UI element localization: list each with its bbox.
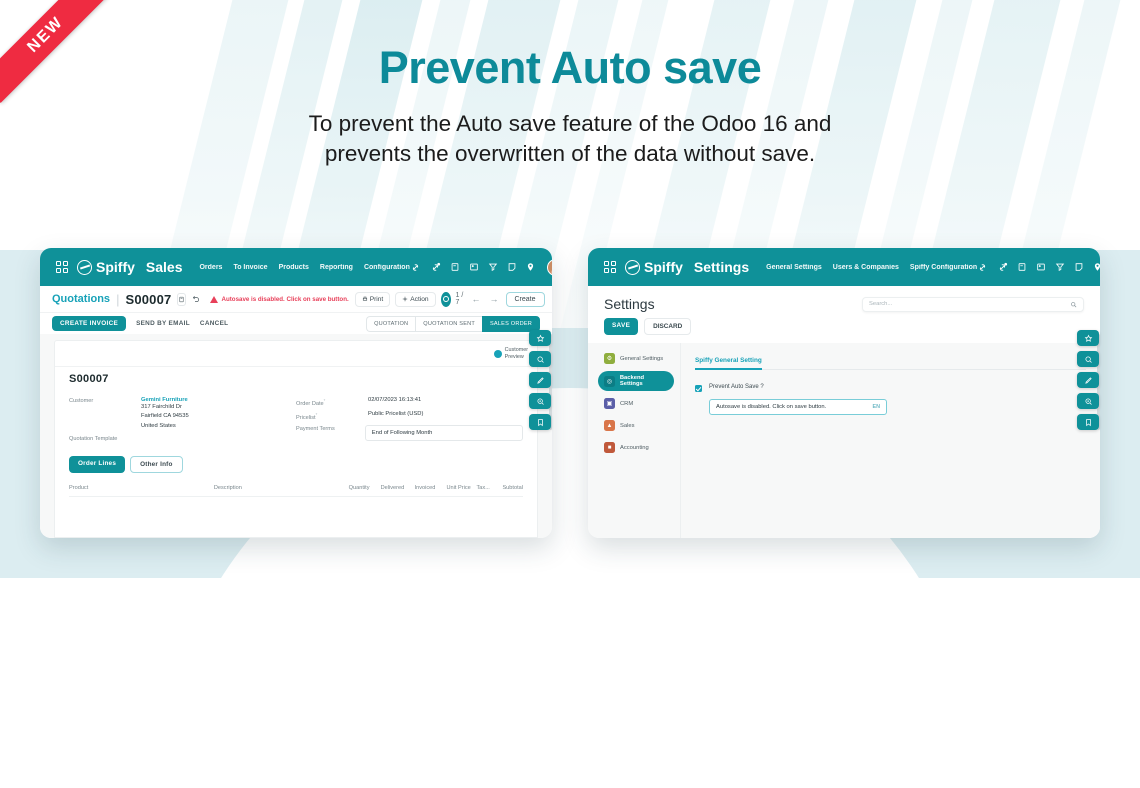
menu-item-to-invoice[interactable]: To Invoice xyxy=(233,264,267,271)
sales-panel: Spiffy Sales Orders To Invoice Products … xyxy=(40,248,552,538)
menu-item-reporting[interactable]: Reporting xyxy=(320,264,353,271)
pin-icon[interactable] xyxy=(526,262,535,272)
sheet-fields: Customer Gemini Furniture 317 Fairchild … xyxy=(69,397,523,446)
filter-icon[interactable] xyxy=(488,262,498,272)
action-button[interactable]: Action xyxy=(395,292,435,307)
link-badge-icon[interactable] xyxy=(430,262,441,273)
undo-icon[interactable] xyxy=(192,293,200,306)
fields-left-column: Customer Gemini Furniture 317 Fairchild … xyxy=(69,397,296,446)
breadcrumb-parent[interactable]: Quotations xyxy=(52,293,110,305)
note-icon[interactable] xyxy=(1074,262,1084,272)
link-badge-icon[interactable] xyxy=(997,262,1008,273)
subtitle-line-1: To prevent the Auto save feature of the … xyxy=(309,111,832,136)
field-customer-value[interactable]: Gemini Furniture 317 Fairchild Dr Fairfi… xyxy=(141,397,189,431)
bookmark-icon[interactable] xyxy=(529,414,551,430)
create-invoice-button[interactable]: CREATE INVOICE xyxy=(52,316,126,331)
customer-preview-button[interactable]: Customer Preview xyxy=(494,347,528,361)
sales-statusbar: CREATE INVOICE SEND BY EMAIL CANCEL QUOT… xyxy=(40,312,552,334)
column-delivered: Delivered xyxy=(381,485,415,491)
column-unit-price: Unit Price xyxy=(447,485,477,491)
spiffy-mark-icon xyxy=(625,260,640,275)
field-quotation-template: Quotation Template xyxy=(69,435,296,442)
tab-other-info[interactable]: Other Info xyxy=(130,456,183,473)
record-actions: Print Action 1 / 7 ← → Create xyxy=(355,292,545,307)
fields-right-column: Order Date* 02/07/2023 16:13:41 Pricelis… xyxy=(296,397,523,446)
payment-terms-input[interactable]: End of Following Month xyxy=(365,425,523,441)
sheet-tabs: Order Lines Other Info xyxy=(69,456,523,473)
warning-triangle-icon xyxy=(210,296,218,303)
menu-item-general-settings[interactable]: General Settings xyxy=(766,264,822,271)
pin-icon[interactable] xyxy=(1093,262,1100,272)
new-ribbon: NEW xyxy=(0,0,110,110)
zoom-icon[interactable] xyxy=(529,393,551,409)
sales-side-tools xyxy=(529,330,1140,430)
field-pricelist: Pricelist* Public Pricelist (USD) xyxy=(296,411,523,421)
tab-order-lines[interactable]: Order Lines xyxy=(69,456,125,473)
arrow-right-icon[interactable]: → xyxy=(488,294,501,304)
breadcrumb: Quotations | S00007 Autosave is disabled… xyxy=(40,286,552,312)
sidebar-item-accounting[interactable]: ■ Accounting xyxy=(598,438,674,457)
user-avatar[interactable] xyxy=(547,259,552,276)
column-tax: Tax... xyxy=(476,485,502,491)
save-record-icon[interactable] xyxy=(441,292,451,307)
star-icon[interactable] xyxy=(1077,330,1099,346)
settings-side-tools xyxy=(1077,330,1140,430)
column-invoiced: Invoiced xyxy=(415,485,447,491)
menu-item-orders[interactable]: Orders xyxy=(199,264,222,271)
settings-systray xyxy=(977,259,1100,276)
brand-name: Spiffy xyxy=(644,259,683,275)
search-circle-icon[interactable] xyxy=(529,351,551,367)
field-pricelist-label: Pricelist* xyxy=(296,411,368,421)
sales-systray xyxy=(410,259,552,276)
order-lines-header: Product Description Quantity Delivered I… xyxy=(69,485,523,497)
field-pricelist-value[interactable]: Public Pricelist (USD) xyxy=(368,411,423,421)
note-icon[interactable] xyxy=(507,262,517,272)
status-stages: QUOTATION QUOTATION SENT SALES ORDER xyxy=(366,316,540,332)
sales-menu: Orders To Invoice Products Reporting Con… xyxy=(199,264,409,271)
field-order-date: Order Date* 02/07/2023 16:13:41 xyxy=(296,397,523,407)
menu-item-configuration[interactable]: Configuration xyxy=(364,264,410,271)
zoom-icon[interactable] xyxy=(1077,393,1099,409)
printer-icon[interactable] xyxy=(1017,262,1027,272)
apps-grid-icon[interactable] xyxy=(604,261,616,273)
field-order-date-value[interactable]: 02/07/2023 16:13:41 xyxy=(368,397,421,407)
search-circle-icon[interactable] xyxy=(1077,351,1099,367)
app-name: Sales xyxy=(146,259,183,275)
customer-preview-icon xyxy=(494,350,502,358)
breadcrumb-record: S00007 xyxy=(125,292,171,307)
app-name: Settings xyxy=(694,259,749,275)
settings-menu: General Settings Users & Companies Spiff… xyxy=(766,264,977,271)
star-icon[interactable] xyxy=(529,330,551,346)
menu-item-users-companies[interactable]: Users & Companies xyxy=(833,264,899,271)
field-order-date-label: Order Date* xyxy=(296,397,368,407)
document-title: S00007 xyxy=(69,373,523,385)
pencil-icon[interactable] xyxy=(1077,372,1099,388)
settings-title: Settings xyxy=(604,296,655,312)
send-by-email-button[interactable]: SEND BY EMAIL xyxy=(136,320,190,327)
customer-preview-line2: Preview xyxy=(505,354,524,360)
field-quotation-template-label: Quotation Template xyxy=(69,435,117,442)
spiffy-mark-icon xyxy=(77,260,92,275)
subtitle-line-2: prevents the overwritten of the data wit… xyxy=(325,141,815,166)
column-product: Product xyxy=(69,485,214,491)
search-input[interactable]: Search... xyxy=(862,297,1084,312)
column-quantity: Quantity xyxy=(349,485,381,491)
autosave-warning: Autosave is disabled. Click on save butt… xyxy=(210,296,348,303)
customer-address-line1: 317 Fairchild Dr xyxy=(141,403,189,412)
action-label: Action xyxy=(410,296,428,303)
print-label: Print xyxy=(370,296,384,303)
field-payment-terms: Payment Terms End of Following Month xyxy=(296,425,523,441)
print-button[interactable]: Print xyxy=(355,292,391,307)
sales-sheet: Customer Preview S00007 Customer Gemini … xyxy=(54,340,538,538)
sheet-divider xyxy=(55,366,537,367)
sales-navbar: Spiffy Sales Orders To Invoice Products … xyxy=(40,248,552,286)
customer-address-line2: Fairfield CA 94535 xyxy=(141,412,189,421)
settings-navbar: Spiffy Settings General Settings Users &… xyxy=(588,248,1100,286)
image-icon[interactable] xyxy=(469,262,479,272)
menu-item-products[interactable]: Products xyxy=(279,264,309,271)
brand-logo[interactable]: Spiffy xyxy=(77,259,135,275)
create-button[interactable]: Create xyxy=(506,292,545,307)
autosave-warning-text: Autosave is disabled. Click on save butt… xyxy=(221,296,348,303)
page-title: Prevent Auto save xyxy=(0,42,1140,94)
settings-header: Settings Search... xyxy=(588,286,1100,312)
search-icon[interactable] xyxy=(1070,301,1077,308)
pencil-icon[interactable] xyxy=(529,372,551,388)
headline-block: Prevent Auto save To prevent the Auto sa… xyxy=(0,42,1140,168)
image-icon[interactable] xyxy=(1036,262,1046,272)
printer-icon[interactable] xyxy=(450,262,460,272)
filter-icon[interactable] xyxy=(1055,262,1065,272)
menu-item-spiffy-configuration[interactable]: Spiffy Configuration xyxy=(910,264,977,271)
bookmark-icon[interactable] xyxy=(1077,414,1099,430)
accounting-icon: ■ xyxy=(604,442,615,453)
field-customer: Customer Gemini Furniture 317 Fairchild … xyxy=(69,397,296,431)
sidebar-label-accounting: Accounting xyxy=(620,445,649,451)
breadcrumb-separator: | xyxy=(116,292,119,307)
search-placeholder: Search... xyxy=(869,301,892,307)
page-subtitle: To prevent the Auto save feature of the … xyxy=(0,109,1140,168)
customer-preview-line1: Customer xyxy=(505,347,528,353)
cancel-button[interactable]: CANCEL xyxy=(200,320,228,327)
arrow-left-icon[interactable]: ← xyxy=(470,294,483,304)
link-icon[interactable] xyxy=(410,262,421,273)
sales-sheet-wrap: Customer Preview S00007 Customer Gemini … xyxy=(40,334,552,538)
brand-logo[interactable]: Spiffy xyxy=(625,259,683,275)
field-payment-terms-label: Payment Terms xyxy=(296,425,365,441)
customer-address-line3: United States xyxy=(141,422,189,431)
new-ribbon-label: NEW xyxy=(0,0,110,103)
field-customer-label: Customer xyxy=(69,397,141,431)
column-subtotal: Subtotal xyxy=(502,485,523,491)
stage-quotation-sent[interactable]: QUOTATION SENT xyxy=(415,316,482,332)
apps-grid-icon[interactable] xyxy=(56,261,68,273)
column-description: Description xyxy=(214,485,349,491)
attachment-icon[interactable] xyxy=(177,293,186,306)
brand-name: Spiffy xyxy=(96,259,135,275)
link-icon[interactable] xyxy=(977,262,988,273)
pager-label: 1 / 7 xyxy=(456,292,465,306)
stage-quotation[interactable]: QUOTATION xyxy=(366,316,415,332)
